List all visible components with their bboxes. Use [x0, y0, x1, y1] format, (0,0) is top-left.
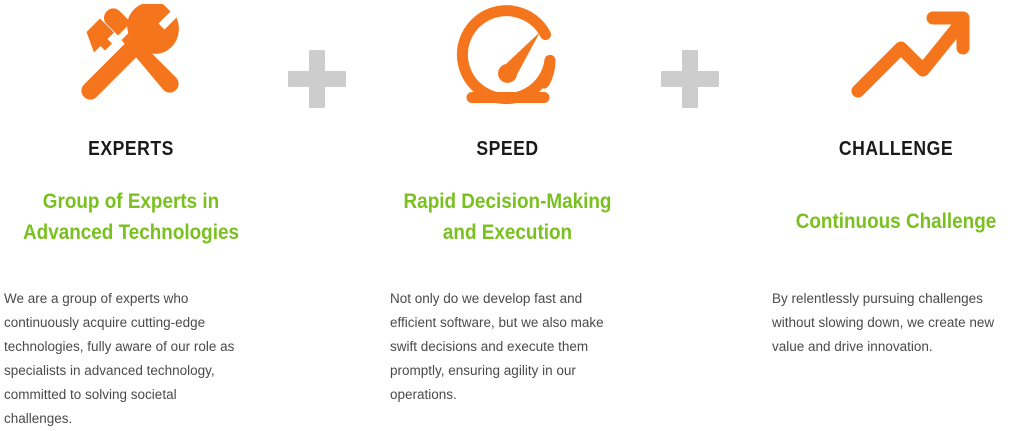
icon-slot-speed [385, 0, 630, 125]
pillar-subhead-speed: Rapid Decision-Making and Execution [397, 186, 618, 248]
value-pillars-diagram: EXPERTS Group of Experts in Advanced Tec… [0, 0, 1024, 429]
pillar-column-challenge: CHALLENGE Continuous Challenge By relent… [768, 0, 1024, 429]
pillar-column-experts: EXPERTS Group of Experts in Advanced Tec… [0, 0, 262, 429]
pillar-body-experts: We are a group of experts who continuous… [4, 287, 244, 431]
pillar-kicker-speed: SPEED [400, 138, 616, 161]
trending-up-arrow-icon [849, 4, 971, 100]
plus-separator-1 [288, 50, 346, 108]
icon-slot-experts [0, 0, 262, 125]
icon-slot-challenge [768, 0, 1024, 125]
pillar-kicker-experts: EXPERTS [16, 138, 247, 161]
pillar-body-speed: Not only do we develop fast and efficien… [390, 287, 628, 407]
plus-separator-2 [661, 50, 719, 108]
plus-vertical-bar [682, 50, 698, 108]
pillar-subhead-experts: Group of Experts in Advanced Technologie… [13, 186, 249, 248]
pillar-body-challenge: By relentlessly pursuing challenges with… [772, 287, 1022, 359]
plus-vertical-bar [309, 50, 325, 108]
hammer-wrench-icon [72, 4, 190, 120]
pillar-kicker-challenge: CHALLENGE [783, 138, 1008, 161]
pillar-column-speed: SPEED Rapid Decision-Making and Executio… [385, 0, 630, 429]
speedometer-icon [453, 4, 563, 118]
pillar-subhead-challenge: Continuous Challenge [781, 206, 1011, 237]
